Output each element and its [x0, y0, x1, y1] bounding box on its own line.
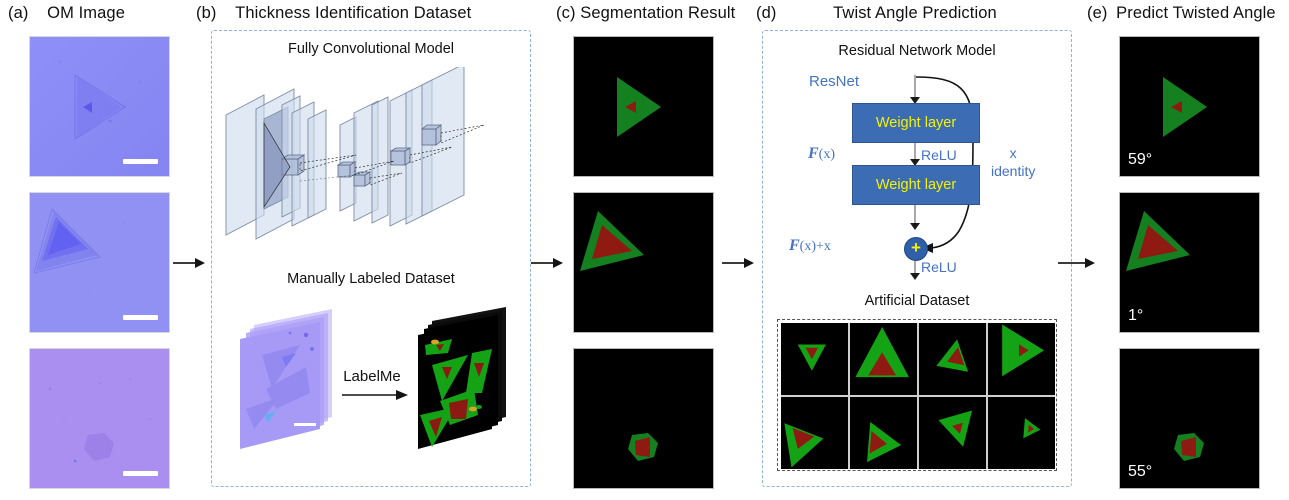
panel-d-header: (d) Twist Angle Prediction — [756, 4, 997, 23]
panel-d-dashed-box: Residual Network Model Weight layer Weig… — [762, 30, 1072, 487]
resnet-input-label: ResNet — [809, 73, 859, 90]
fx-plus-x-label: F(x)+x — [789, 237, 831, 255]
panel-e-title: Predict Twisted Angle — [1116, 4, 1276, 23]
fcn-diagram — [216, 67, 526, 247]
artificial-sample-1 — [781, 323, 848, 395]
om-image-top — [29, 36, 170, 177]
identity-x: x — [1010, 145, 1017, 161]
panel-d-tag: (d) — [756, 4, 776, 23]
artificial-sample-7 — [919, 397, 986, 469]
resnet-diagram: Weight layer Weight layer ResNet ReLU F(… — [763, 67, 1071, 289]
manually-labeled-dataset-label: Manually Labeled Dataset — [212, 271, 530, 287]
figure-root: (a) OM Image (b) Thickness Identificatio… — [0, 0, 1289, 500]
prediction-angle-middle: 1° — [1128, 308, 1143, 324]
relu-label-2: ReLU — [921, 259, 957, 275]
sum-script-f: F — [789, 237, 800, 254]
fully-convolutional-model-label: Fully Convolutional Model — [212, 41, 530, 57]
fx-script-f: F — [808, 145, 819, 162]
panel-b-tag: (b) — [196, 4, 216, 23]
artificial-sample-8 — [988, 397, 1055, 469]
identity-label: x identity — [991, 145, 1035, 180]
om-image-middle — [29, 192, 170, 333]
panel-b-title: Thickness Identification Dataset — [235, 4, 471, 23]
panel-c-tag: (c) — [556, 4, 576, 23]
artificial-sample-2 — [850, 323, 917, 395]
scale-bar — [123, 315, 158, 320]
artificial-sample-3 — [919, 323, 986, 395]
weight-layer-1: Weight layer — [852, 103, 980, 143]
prediction-middle: 1° — [1119, 192, 1260, 333]
panel-b-dashed-box: Fully Convolutional Model — [211, 30, 531, 487]
artificial-sample-4 — [988, 323, 1055, 395]
sum-node: + — [904, 237, 928, 261]
prediction-angle-bottom: 55° — [1128, 464, 1152, 480]
panel-b-header: (b) Thickness Identification Dataset — [196, 4, 471, 23]
artificial-dataset-label: Artificial Dataset — [763, 293, 1071, 309]
panel-c-title: Segmentation Result — [580, 4, 735, 23]
arrow-c-to-d — [722, 258, 754, 268]
panel-a-tag: (a) — [8, 4, 28, 23]
labelme-arrow-text: LabelMe — [343, 368, 401, 385]
scale-bar — [123, 471, 158, 476]
fx-suffix: (x) — [819, 147, 835, 162]
sum-suffix: (x)+x — [800, 239, 831, 254]
artificial-dataset-box — [777, 319, 1057, 471]
prediction-angle-top: 59° — [1128, 152, 1152, 168]
residual-network-model-label: Residual Network Model — [763, 43, 1071, 59]
relu-label-1: ReLU — [921, 147, 957, 163]
artificial-sample-5 — [781, 397, 848, 469]
segmentation-middle — [573, 192, 714, 333]
weight-layer-2: Weight layer — [852, 165, 980, 205]
panel-c-header: (c) Segmentation Result — [556, 4, 735, 23]
panel-a-header: (a) OM Image — [8, 4, 125, 23]
panel-e-header: (e) Predict Twisted Angle — [1087, 4, 1276, 23]
arrow-b-to-c — [531, 258, 563, 268]
prediction-top: 59° — [1119, 36, 1260, 177]
arrow-a-to-b — [173, 258, 205, 268]
segmentation-top — [573, 36, 714, 177]
prediction-bottom: 55° — [1119, 348, 1260, 489]
fx-label: F(x) — [808, 145, 835, 163]
arrow-d-to-e — [1058, 258, 1096, 268]
panel-a-title: OM Image — [47, 4, 125, 23]
identity-word: identity — [991, 163, 1035, 179]
manual-labeling-diagram: LabelMe — [220, 297, 522, 479]
artificial-dataset-grid — [781, 323, 1055, 469]
om-image-bottom — [29, 348, 170, 489]
panel-e-tag: (e) — [1087, 4, 1107, 23]
panel-d-title: Twist Angle Prediction — [833, 4, 997, 23]
segmentation-bottom — [573, 348, 714, 489]
scale-bar — [123, 159, 158, 164]
artificial-sample-6 — [850, 397, 917, 469]
